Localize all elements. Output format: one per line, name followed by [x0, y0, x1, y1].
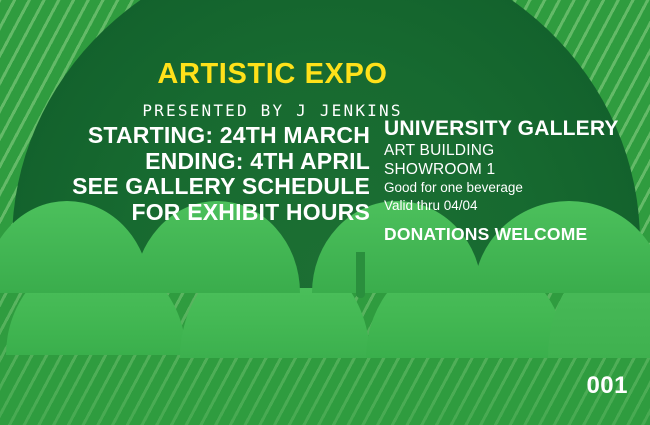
beverage-perk: Good for one beverage — [384, 179, 634, 197]
donations-call-to-action: DONATIONS WELCOME — [384, 224, 634, 245]
event-detail-line: FOR EXHIBIT HOURS — [18, 200, 370, 226]
event-details-block: STARTING: 24TH MARCH ENDING: 4TH APRIL S… — [18, 123, 370, 225]
venue-info-block: UNIVERSITY GALLERY ART BUILDING SHOWROOM… — [384, 117, 634, 245]
venue-building: ART BUILDING — [384, 141, 634, 160]
venue-name: UNIVERSITY GALLERY — [384, 117, 634, 141]
serial-number: 001 — [586, 372, 628, 400]
venue-room: SHOWROOM 1 — [384, 160, 634, 179]
event-detail-line: STARTING: 24TH MARCH — [18, 123, 370, 149]
umbrella-tip — [356, 252, 365, 298]
event-title: ARTISTIC EXPO — [0, 58, 545, 91]
event-detail-line: ENDING: 4TH APRIL — [18, 149, 370, 175]
event-ticket: ARTISTIC EXPO PRESENTED BY J JENKINS STA… — [0, 0, 650, 425]
validity-note: Valid thru 04/04 — [384, 197, 634, 215]
event-detail-line: SEE GALLERY SCHEDULE — [18, 174, 370, 200]
